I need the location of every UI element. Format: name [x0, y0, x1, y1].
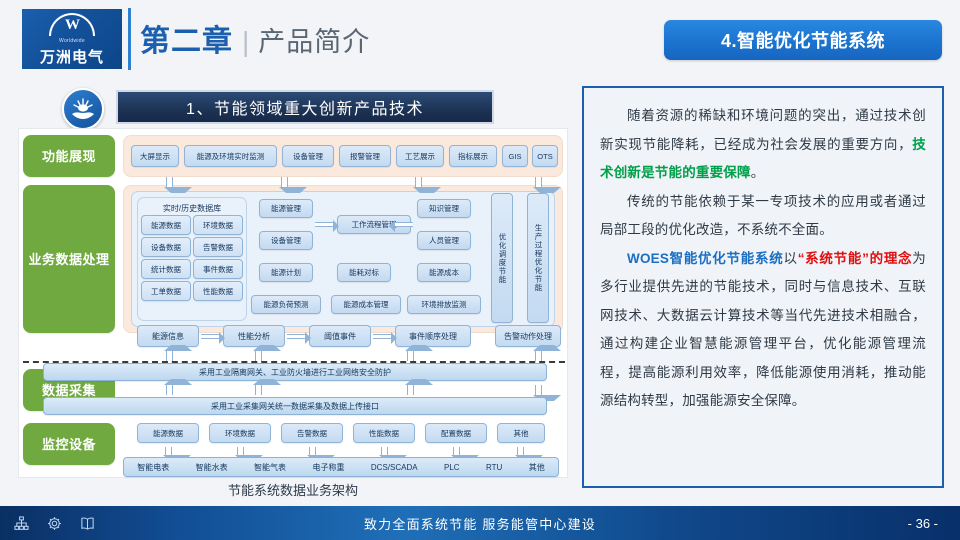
node-personnel-management[interactable]: 人员管理 — [417, 231, 471, 250]
node-performance-analysis[interactable]: 性能分析 — [223, 325, 285, 347]
data-node-performance[interactable]: 性能数据 — [353, 423, 415, 443]
lane-function-display: 功能展现 — [23, 135, 115, 177]
device-other[interactable]: 其他 — [529, 463, 545, 472]
company-logo: W Worldwide 万洲电气 — [22, 9, 122, 69]
arrow-workflow-out — [395, 222, 413, 227]
node-energy-information[interactable]: 能源信息 — [137, 325, 199, 347]
node-knowledge-management[interactable]: 知识管理 — [417, 199, 471, 218]
arrow-down-4 — [535, 177, 542, 187]
data-node-configuration[interactable]: 配置数据 — [425, 423, 487, 443]
arrow-down-2 — [281, 177, 288, 187]
node-alarm-action-processing[interactable]: 告警动作处理 — [495, 325, 561, 347]
slide-footer: 致力全面系统节能 服务能管中心建设 - 36 - — [0, 506, 960, 540]
footer-page-number: - 36 - — [908, 506, 938, 540]
db-cell-alarm-data[interactable]: 告警数据 — [193, 237, 243, 257]
device-smart-electric-meter[interactable]: 智能电表 — [137, 463, 169, 472]
arrow-dev-4 — [381, 447, 388, 455]
p1-text-a: 随着资源的稀缺和环境问题的突出，通过技术创新实现节能降耗，已经成为社会发展的重要… — [600, 108, 926, 152]
architecture-diagram: 功能展现 业务数据处理 数据采集 监控设备 大屏显示 能源及环境实时监测 设备管… — [18, 128, 568, 478]
db-cell-energy-data[interactable]: 能源数据 — [141, 215, 191, 235]
data-node-environment[interactable]: 环境数据 — [209, 423, 271, 443]
arrow-dev-1 — [165, 447, 172, 455]
chapter-separator: | — [242, 26, 249, 58]
node-energy-env-monitoring[interactable]: 能源及环境实时监测 — [184, 145, 277, 167]
p1-text-b: 。 — [751, 165, 765, 180]
device-plc[interactable]: PLC — [444, 463, 460, 472]
arrow-up-sec-1 — [166, 351, 173, 361]
node-big-screen-display[interactable]: 大屏显示 — [131, 145, 179, 167]
node-gis[interactable]: GIS — [502, 145, 528, 167]
node-process-display[interactable]: 工艺展示 — [396, 145, 444, 167]
db-cell-environment-data[interactable]: 环境数据 — [193, 215, 243, 235]
node-emission-monitoring[interactable]: 环境排放监测 — [407, 295, 481, 314]
section-heading-bar: 1、节能领域重大创新产品技术 — [116, 90, 494, 124]
device-dcs-scada[interactable]: DCS/SCADA — [371, 463, 418, 472]
slide-header: W Worldwide 万洲电气 第二章 | 产品简介 4.智能优化节能系统 — [0, 0, 960, 78]
device-electronic-weighing[interactable]: 电子称重 — [312, 463, 344, 472]
database-title: 实时/历史数据库 — [138, 203, 246, 214]
section-heading-text: 1、节能领域重大创新产品技术 — [186, 95, 424, 119]
arrow-up-col-3 — [407, 385, 414, 395]
db-cell-device-data[interactable]: 设备数据 — [141, 237, 191, 257]
p3-text-b: 以 — [783, 251, 797, 266]
slide-title-text: 4.智能优化节能系统 — [721, 27, 885, 53]
db-cell-statistics-data[interactable]: 统计数据 — [141, 259, 191, 279]
device-layer-bar: 智能电表 智能水表 智能气表 电子称重 DCS/SCADA PLC RTU 其他 — [123, 457, 559, 477]
logo-mark-letter: W — [49, 17, 95, 33]
device-rtu[interactable]: RTU — [486, 463, 502, 472]
device-smart-gas-meter[interactable]: 智能气表 — [254, 463, 286, 472]
logo-mark-icon: W — [49, 11, 95, 37]
node-event-sequence-processing[interactable]: 事件顺序处理 — [395, 325, 471, 347]
node-production-process-saving[interactable]: 生产过程优化节能 — [527, 193, 549, 323]
node-energy-benchmarking[interactable]: 能耗对标 — [337, 263, 391, 282]
node-ots[interactable]: OTS — [532, 145, 558, 167]
arrow-workflow-in — [315, 222, 333, 227]
arrow-dev-5 — [453, 447, 460, 455]
arrow-dev-3 — [309, 447, 316, 455]
logo-chinese-name: 万洲电气 — [40, 46, 104, 67]
header-accent-divider — [128, 8, 131, 70]
device-smart-water-meter[interactable]: 智能水表 — [196, 463, 228, 472]
node-energy-plan[interactable]: 能源计划 — [259, 263, 313, 282]
paragraph-1: 随着资源的稀缺和环境问题的突出，通过技术创新实现节能降耗，已经成为社会发展的重要… — [600, 102, 926, 188]
chapter-number: 第二章 — [140, 16, 233, 60]
db-cell-performance-data[interactable]: 性能数据 — [193, 281, 243, 301]
data-node-energy[interactable]: 能源数据 — [137, 423, 199, 443]
chapter-breadcrumb: 第二章 | 产品简介 — [140, 16, 370, 60]
arrow-down-col-4 — [535, 385, 542, 395]
data-node-alarm[interactable]: 告警数据 — [281, 423, 343, 443]
collection-gateway-bar: 采用工业采集网关统一数据采集及数据上传接口 — [43, 397, 547, 415]
node-energy-cost-management[interactable]: 能源成本管理 — [331, 295, 401, 314]
arrow-event-1 — [201, 334, 219, 339]
db-cell-event-data[interactable]: 事件数据 — [193, 259, 243, 279]
arrow-up-sec-4 — [535, 351, 542, 361]
description-panel: 随着资源的稀缺和环境问题的突出，通过技术创新实现节能降耗，已经成为社会发展的重要… — [582, 86, 944, 488]
chapter-subtitle: 产品简介 — [258, 20, 370, 59]
arrow-event-3 — [373, 334, 391, 339]
node-device-management[interactable]: 设备管理 — [282, 145, 334, 167]
footer-slogan: 致力全面系统节能 服务能管中心建设 — [0, 506, 960, 540]
db-cell-workorder-data[interactable]: 工单数据 — [141, 281, 191, 301]
arrow-up-sec-3 — [407, 351, 414, 361]
arrow-up-col-1 — [166, 385, 173, 395]
diagram-caption: 节能系统数据业务架构 — [18, 480, 568, 499]
arrow-dev-6 — [517, 447, 524, 455]
logo-english-name: Worldwide — [59, 38, 85, 44]
hand-energy-icon — [62, 88, 104, 130]
lane-business-data-processing: 业务数据处理 — [23, 185, 115, 333]
security-gateway-bar: 采用工业隔离网关、工业防火墙进行工业网络安全防护 — [43, 363, 547, 381]
p3-concept-highlight: “系统节能”的理念 — [798, 251, 913, 266]
node-optimized-dispatch-saving[interactable]: 优化调度节能 — [491, 193, 513, 323]
data-node-other[interactable]: 其他 — [497, 423, 545, 443]
lane-monitoring-devices: 监控设备 — [23, 423, 115, 465]
arrow-up-col-2 — [255, 385, 262, 395]
slide-title-badge: 4.智能优化节能系统 — [664, 20, 942, 60]
node-equipment-management[interactable]: 设备管理 — [259, 231, 313, 250]
node-energy-management[interactable]: 能源管理 — [259, 199, 313, 218]
node-energy-cost[interactable]: 能源成本 — [417, 263, 471, 282]
node-alarm-management[interactable]: 报警管理 — [339, 145, 391, 167]
node-energy-load-forecast[interactable]: 能源负荷预测 — [251, 295, 321, 314]
node-threshold-event[interactable]: 阈值事件 — [309, 325, 371, 347]
p3-product-name: WOES智能优化节能系统 — [627, 251, 783, 266]
p3-text-d: 为多行业提供先进的节能技术，同时与信息技术、互联网技术、大数据云计算技术等当代先… — [600, 251, 926, 409]
paragraph-3: WOES智能优化节能系统以“系统节能”的理念为多行业提供先进的节能技术，同时与信… — [600, 245, 926, 416]
arrow-event-2 — [287, 334, 305, 339]
paragraph-2: 传统的节能依赖于某一专项技术的应用或者通过局部工段的优化改造，不系统不全面。 — [600, 188, 926, 245]
node-indicator-display[interactable]: 指标展示 — [449, 145, 497, 167]
arrow-down-1 — [166, 177, 173, 187]
arrow-up-sec-2 — [255, 351, 262, 361]
arrow-down-3 — [415, 177, 422, 187]
arrow-dev-2 — [237, 447, 244, 455]
